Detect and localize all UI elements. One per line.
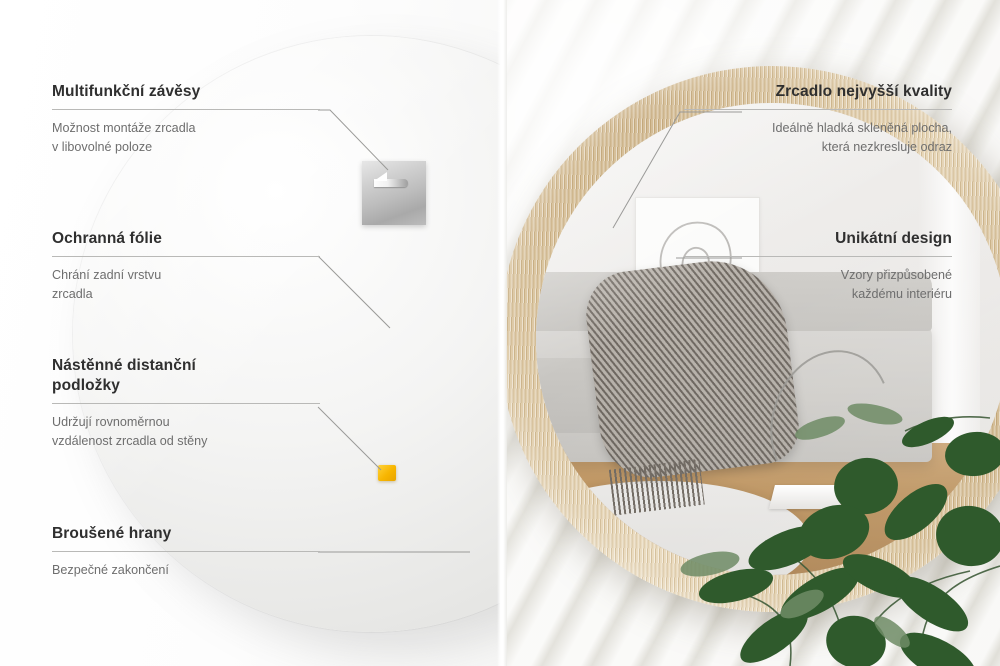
wall-spacer-pad-marker (378, 465, 396, 481)
callout-description: Chrání zadní vrstvu zrcadla (52, 266, 320, 303)
callout-title: Ochranná fólie (52, 229, 320, 249)
callout-title: Unikátní design (684, 229, 952, 249)
callout-rule (52, 551, 320, 552)
callout-title: Multifunkční závěsy (52, 82, 320, 102)
callout-rule (52, 256, 320, 257)
callout-rule (52, 109, 320, 110)
callout-protective-foil: Ochranná fólie Chrání zadní vrstvu zrcad… (52, 229, 320, 303)
foliage-branches (670, 336, 1000, 666)
callout-multifunction-hangers: Multifunkční závěsy Možnost montáže zrca… (52, 82, 320, 156)
callout-top-quality-mirror: Zrcadlo nejvyšší kvality Ideálně hladká … (684, 82, 952, 156)
callout-description: Ideálně hladká skleněná plocha, která ne… (684, 119, 952, 156)
callout-rule (52, 403, 320, 404)
callout-description: Možnost montáže zrcadla v libovolné polo… (52, 119, 320, 156)
callout-description: Bezpečné zakončení (52, 561, 320, 580)
callout-description: Udržují rovnoměrnou vzdálenost zrcadla o… (52, 413, 320, 450)
callout-rule (684, 256, 952, 257)
callout-wall-spacers: Nástěnné distanční podložky Udržují rovn… (52, 356, 320, 451)
callout-title: Broušené hrany (52, 524, 320, 544)
callout-description: Vzory přizpůsobené každému interiéru (684, 266, 952, 303)
callout-title: Zrcadlo nejvyšší kvality (684, 82, 952, 102)
callout-ground-edges: Broušené hrany Bezpečné zakončení (52, 524, 320, 580)
callout-unique-design: Unikátní design Vzory přizpůsobené každé… (684, 229, 952, 303)
infographic-canvas: Multifunkční závěsy Možnost montáže zrca… (0, 0, 1000, 666)
callout-title: Nástěnné distanční podložky (52, 356, 320, 396)
bracket-slot-icon (374, 179, 408, 187)
pane-seam-divider (497, 0, 507, 666)
callout-rule (684, 109, 952, 110)
hanging-bracket-marker (362, 161, 426, 225)
